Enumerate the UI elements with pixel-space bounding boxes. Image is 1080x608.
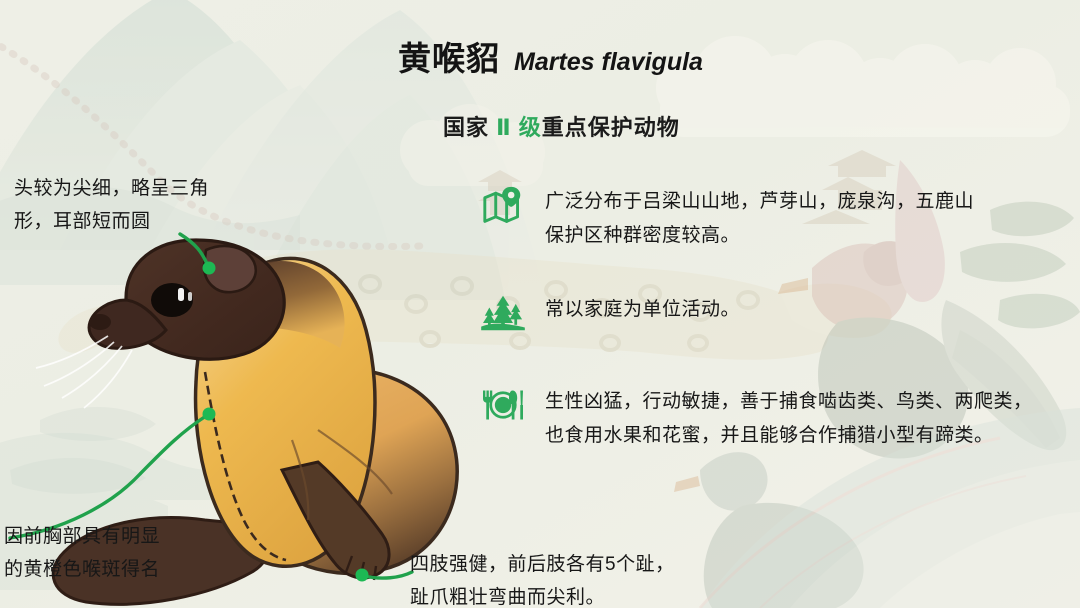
protection-prefix: 国家 xyxy=(443,115,489,140)
eye xyxy=(151,283,193,317)
ear xyxy=(204,246,256,292)
protection-level: Ⅱ 级 xyxy=(496,115,542,140)
callout-limbs: 四肢强健，前后肢各有5个趾， 趾爪粗壮弯曲而尖利。 xyxy=(410,548,675,608)
fact-diet: 生性凶猛，行动敏捷，善于捕食啮齿类、鸟类、两爬类， 也食用水果和花蜜，并且能够合… xyxy=(481,385,1033,453)
leader-head xyxy=(180,234,208,266)
fact-social-behavior: 常以家庭为单位活动。 xyxy=(481,293,740,333)
dining-icon xyxy=(481,385,525,425)
fact-social-text: 常以家庭为单位活动。 xyxy=(545,293,740,327)
whiskers xyxy=(36,336,132,408)
title-scientific-name: Martes flavigula xyxy=(514,48,703,77)
protection-suffix: 重点保护动物 xyxy=(542,115,680,140)
paw-claws xyxy=(346,556,376,580)
callout-head-shape: 头较为尖细，略呈三角 形，耳部短而圆 xyxy=(14,172,209,238)
fact-distribution: 广泛分布于吕梁山山地，芦芽山，庞泉沟，五鹿山 保护区种群密度较高。 xyxy=(481,185,974,253)
background-leopard xyxy=(58,249,891,360)
trees-icon xyxy=(481,293,525,333)
fact-diet-text: 生性凶猛，行动敏捷，善于捕食啮齿类、鸟类、两爬类， 也食用水果和花蜜，并且能够合… xyxy=(545,385,1033,453)
fact-distribution-text: 广泛分布于吕梁山山地，芦芽山，庞泉沟，五鹿山 保护区种群密度较高。 xyxy=(545,185,974,253)
protection-status-badge: 国家 Ⅱ 级重点保护动物 xyxy=(443,110,680,142)
leader-endpoint-dots xyxy=(203,262,369,582)
leader-limbs xyxy=(364,572,412,578)
title-chinese: 黄喉貂 xyxy=(398,32,500,80)
nose xyxy=(89,314,111,330)
callout-throat-patch: 因前胸部具有明显 的黄橙色喉斑得名 xyxy=(4,520,160,586)
map-pin-icon xyxy=(481,185,525,225)
poster-canvas: 黄喉貂 Martes flavigula 国家 Ⅱ 级重点保护动物 广泛分布于吕… xyxy=(0,0,1080,608)
page-title: 黄喉貂 Martes flavigula xyxy=(398,32,703,80)
